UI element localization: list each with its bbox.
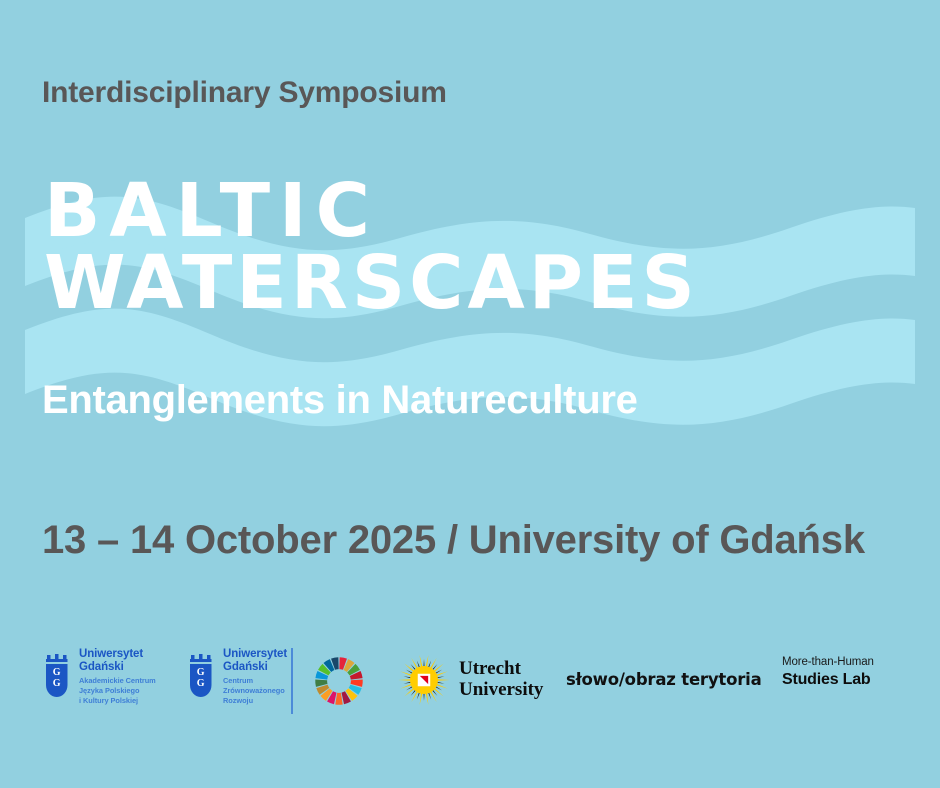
utrecht-sun-icon	[398, 654, 450, 706]
utrecht-name-line-1: Utrecht	[459, 659, 543, 680]
logo-slowo-obraz-terytoria[interactable]: słowo/obraz terytoria	[566, 670, 762, 689]
logo-divider	[291, 648, 293, 714]
logo-utrecht-university[interactable]: Utrecht University	[398, 654, 543, 706]
ug-name-line-2: Gdański	[223, 661, 287, 674]
subtitle: Entanglements in Natureculture	[42, 378, 638, 423]
logo-strip: G G Uniwersytet Gdański Akademickie Cent…	[0, 636, 940, 736]
ug-sub-line-2: Zrównoważonego	[223, 686, 287, 696]
mth-line-1: More-than-Human	[782, 656, 874, 670]
mth-line-2: Studies Lab	[782, 671, 874, 690]
ug-sub-line-2: Języka Polskiego	[79, 686, 156, 696]
poster-canvas: Interdisciplinary Symposium BALTIC WATER…	[0, 0, 940, 788]
ug-sub-line-1: Akademickie Centrum	[79, 676, 156, 686]
eyebrow-label: Interdisciplinary Symposium	[42, 76, 447, 110]
ug-crest-icon: G G	[186, 654, 216, 700]
svg-text:G: G	[53, 667, 61, 678]
sdg-wheel-icon	[312, 654, 366, 708]
ug-name-line-1: Uniwersytet	[223, 648, 287, 661]
logo-uniwersytet-gdanski-czr[interactable]: G G Uniwersytet Gdański Centrum Zrównowa…	[186, 648, 287, 706]
ug-name-line-1: Uniwersytet	[79, 648, 156, 661]
logo-uniwersytet-gdanski-acjpikp[interactable]: G G Uniwersytet Gdański Akademickie Cent…	[42, 648, 156, 706]
slowo-obraz-wordmark: słowo/obraz terytoria	[566, 670, 762, 689]
logo-more-than-human-studies-lab[interactable]: More-than-Human Studies Lab	[782, 656, 874, 689]
page-title: BALTIC WATERSCAPES	[44, 176, 699, 320]
title-line-1: BALTIC	[44, 176, 699, 248]
ug-sub-line-3: i Kultury Polskiej	[79, 696, 156, 706]
date-venue-line: 13 – 14 October 2025 / University of Gda…	[42, 518, 865, 563]
logo-sdg-wheel[interactable]	[312, 654, 366, 708]
ug-sub-line-1: Centrum	[223, 676, 287, 686]
svg-text:G: G	[197, 667, 205, 678]
svg-text:G: G	[197, 678, 205, 689]
title-line-2: WATERSCAPES	[44, 248, 699, 320]
utrecht-name-line-2: University	[459, 680, 543, 701]
svg-text:G: G	[53, 678, 61, 689]
ug-crest-icon: G G	[42, 654, 72, 700]
ug-name-line-2: Gdański	[79, 661, 156, 674]
ug-sub-line-3: Rozwoju	[223, 696, 287, 706]
